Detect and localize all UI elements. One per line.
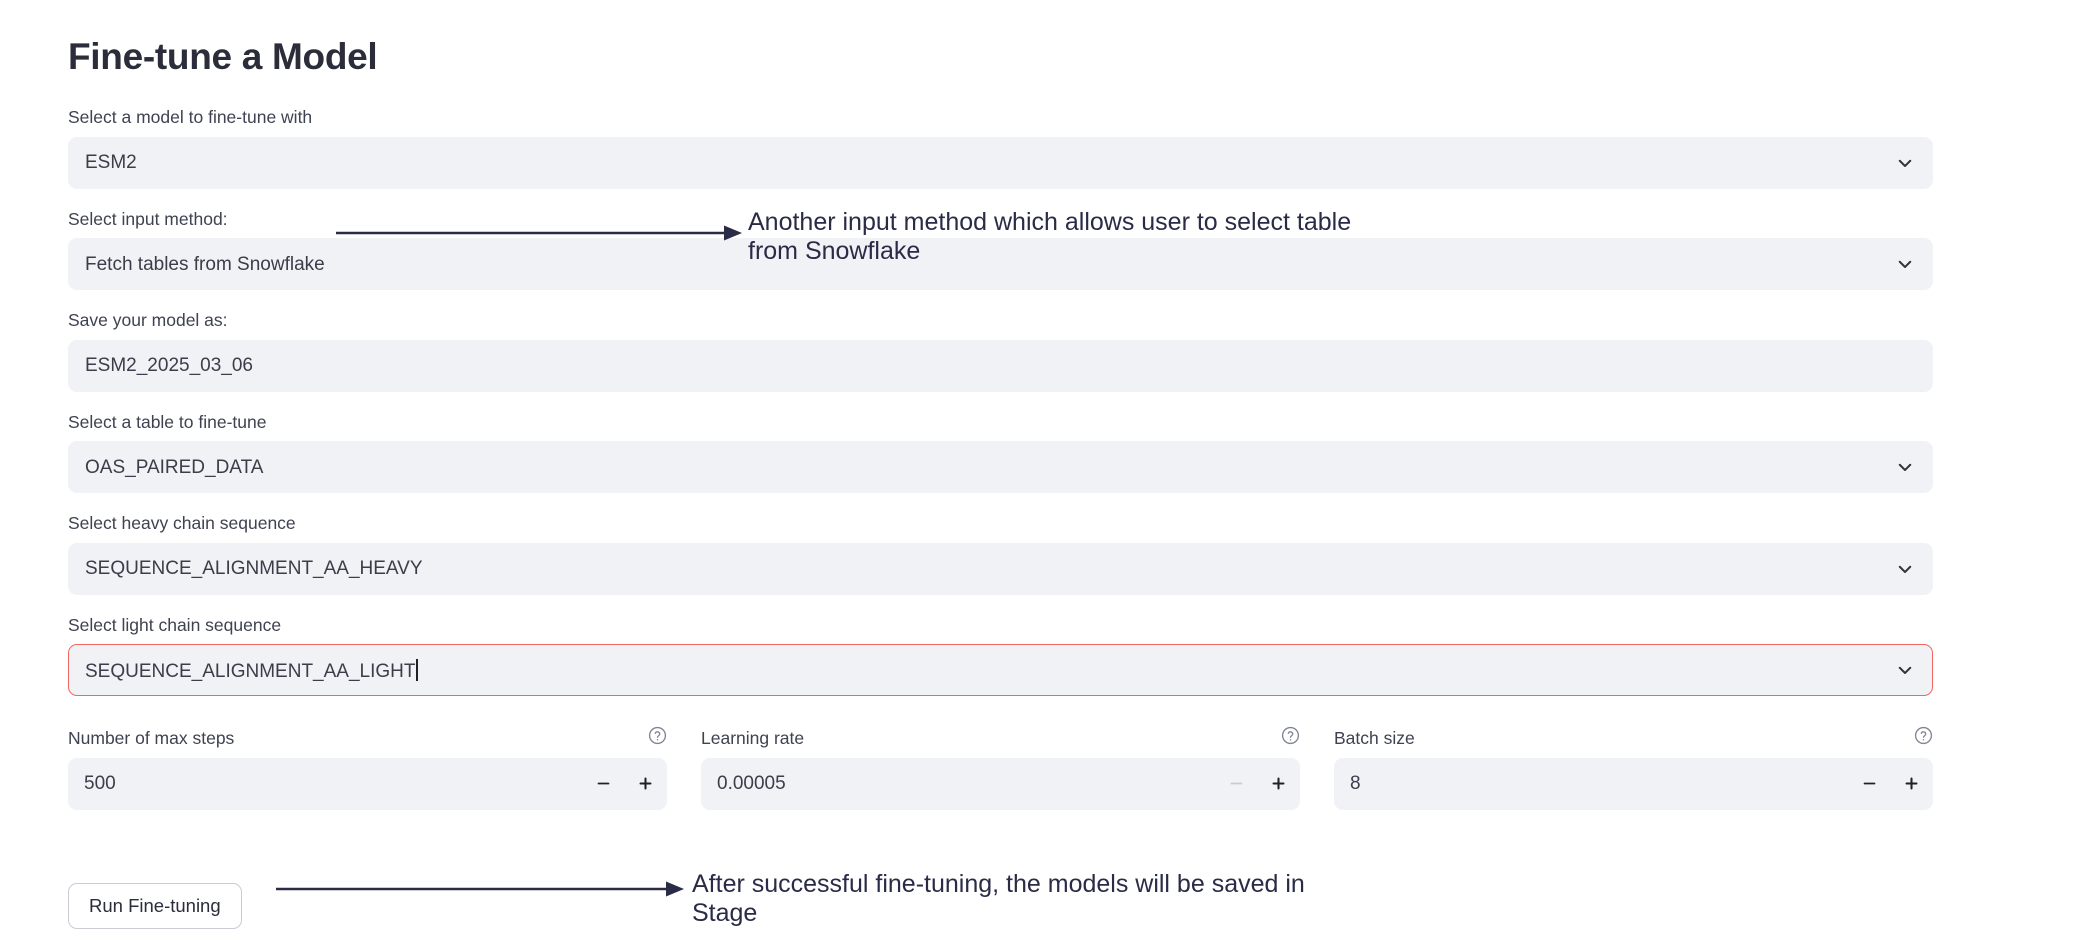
annotation-arrow-stage xyxy=(274,876,686,902)
field-model-name: Save your model as: ESM2_2025_03_06 xyxy=(68,308,1933,392)
learning-rate-increment-button[interactable] xyxy=(1268,774,1288,794)
field-light-chain: Select light chain sequence SEQUENCE_ALI… xyxy=(68,613,1933,697)
field-heavy-chain: Select heavy chain sequence SEQUENCE_ALI… xyxy=(68,511,1933,595)
model-name-input[interactable]: ESM2_2025_03_06 xyxy=(68,340,1933,392)
batch-size-stepper[interactable]: 8 xyxy=(1334,758,1933,810)
model-select-value: ESM2 xyxy=(69,153,137,172)
table-select[interactable]: OAS_PAIRED_DATA xyxy=(68,441,1933,493)
field-label: Save your model as: xyxy=(68,308,1933,333)
learning-rate-value: 0.00005 xyxy=(701,774,786,793)
model-select[interactable]: ESM2 xyxy=(68,137,1933,189)
field-batch-size: Batch size 8 xyxy=(1334,726,1933,810)
annotation-stage: After successful fine-tuning, the models… xyxy=(692,870,1305,929)
chevron-down-icon[interactable] xyxy=(1896,239,1914,289)
field-label: Select a table to fine-tune xyxy=(68,410,1933,435)
hyperparameter-row: Number of max steps 500 xyxy=(68,726,1933,810)
run-fine-tuning-button[interactable]: Run Fine-tuning xyxy=(68,883,242,929)
heavy-chain-select[interactable]: SEQUENCE_ALIGNMENT_AA_HEAVY xyxy=(68,543,1933,595)
help-circle-icon[interactable] xyxy=(1914,726,1933,750)
field-model-select: Select a model to fine-tune with ESM2 xyxy=(68,105,1933,189)
chevron-down-icon[interactable] xyxy=(1896,544,1914,594)
num-label: Batch size xyxy=(1334,726,1415,751)
chevron-down-icon[interactable] xyxy=(1896,645,1914,695)
learning-rate-stepper[interactable]: 0.00005 xyxy=(701,758,1300,810)
field-label: Select heavy chain sequence xyxy=(68,511,1933,536)
field-table-select: Select a table to fine-tune OAS_PAIRED_D… xyxy=(68,410,1933,494)
field-learning-rate: Learning rate 0.00005 xyxy=(701,726,1300,810)
heavy-chain-select-value: SEQUENCE_ALIGNMENT_AA_HEAVY xyxy=(69,559,423,578)
batch-size-increment-button[interactable] xyxy=(1901,774,1921,794)
help-circle-icon[interactable] xyxy=(648,726,667,750)
model-name-input-value: ESM2_2025_03_06 xyxy=(69,356,253,375)
max-steps-increment-button[interactable] xyxy=(635,774,655,794)
chevron-down-icon[interactable] xyxy=(1896,442,1914,492)
batch-size-value: 8 xyxy=(1334,774,1361,793)
max-steps-decrement-button[interactable] xyxy=(593,774,613,794)
table-select-value: OAS_PAIRED_DATA xyxy=(69,458,263,477)
field-max-steps: Number of max steps 500 xyxy=(68,726,667,810)
light-chain-select[interactable]: SEQUENCE_ALIGNMENT_AA_LIGHT xyxy=(68,644,1933,696)
num-label: Number of max steps xyxy=(68,726,234,751)
field-label: Select a model to fine-tune with xyxy=(68,105,1933,130)
input-method-select-value: Fetch tables from Snowflake xyxy=(69,255,325,274)
num-label: Learning rate xyxy=(701,726,804,751)
fine-tune-page: Fine-tune a Model Select a model to fine… xyxy=(0,0,2080,946)
chevron-down-icon[interactable] xyxy=(1896,138,1914,188)
light-chain-select-value: SEQUENCE_ALIGNMENT_AA_LIGHT xyxy=(69,659,418,681)
max-steps-value: 500 xyxy=(68,774,116,793)
help-circle-icon[interactable] xyxy=(1281,726,1300,750)
batch-size-decrement-button[interactable] xyxy=(1859,774,1879,794)
max-steps-stepper[interactable]: 500 xyxy=(68,758,667,810)
page-title: Fine-tune a Model xyxy=(68,33,377,81)
field-label: Select light chain sequence xyxy=(68,613,1933,638)
annotation-input-method: Another input method which allows user t… xyxy=(748,208,1351,267)
text-cursor xyxy=(416,659,418,681)
learning-rate-decrement-button xyxy=(1226,774,1246,794)
